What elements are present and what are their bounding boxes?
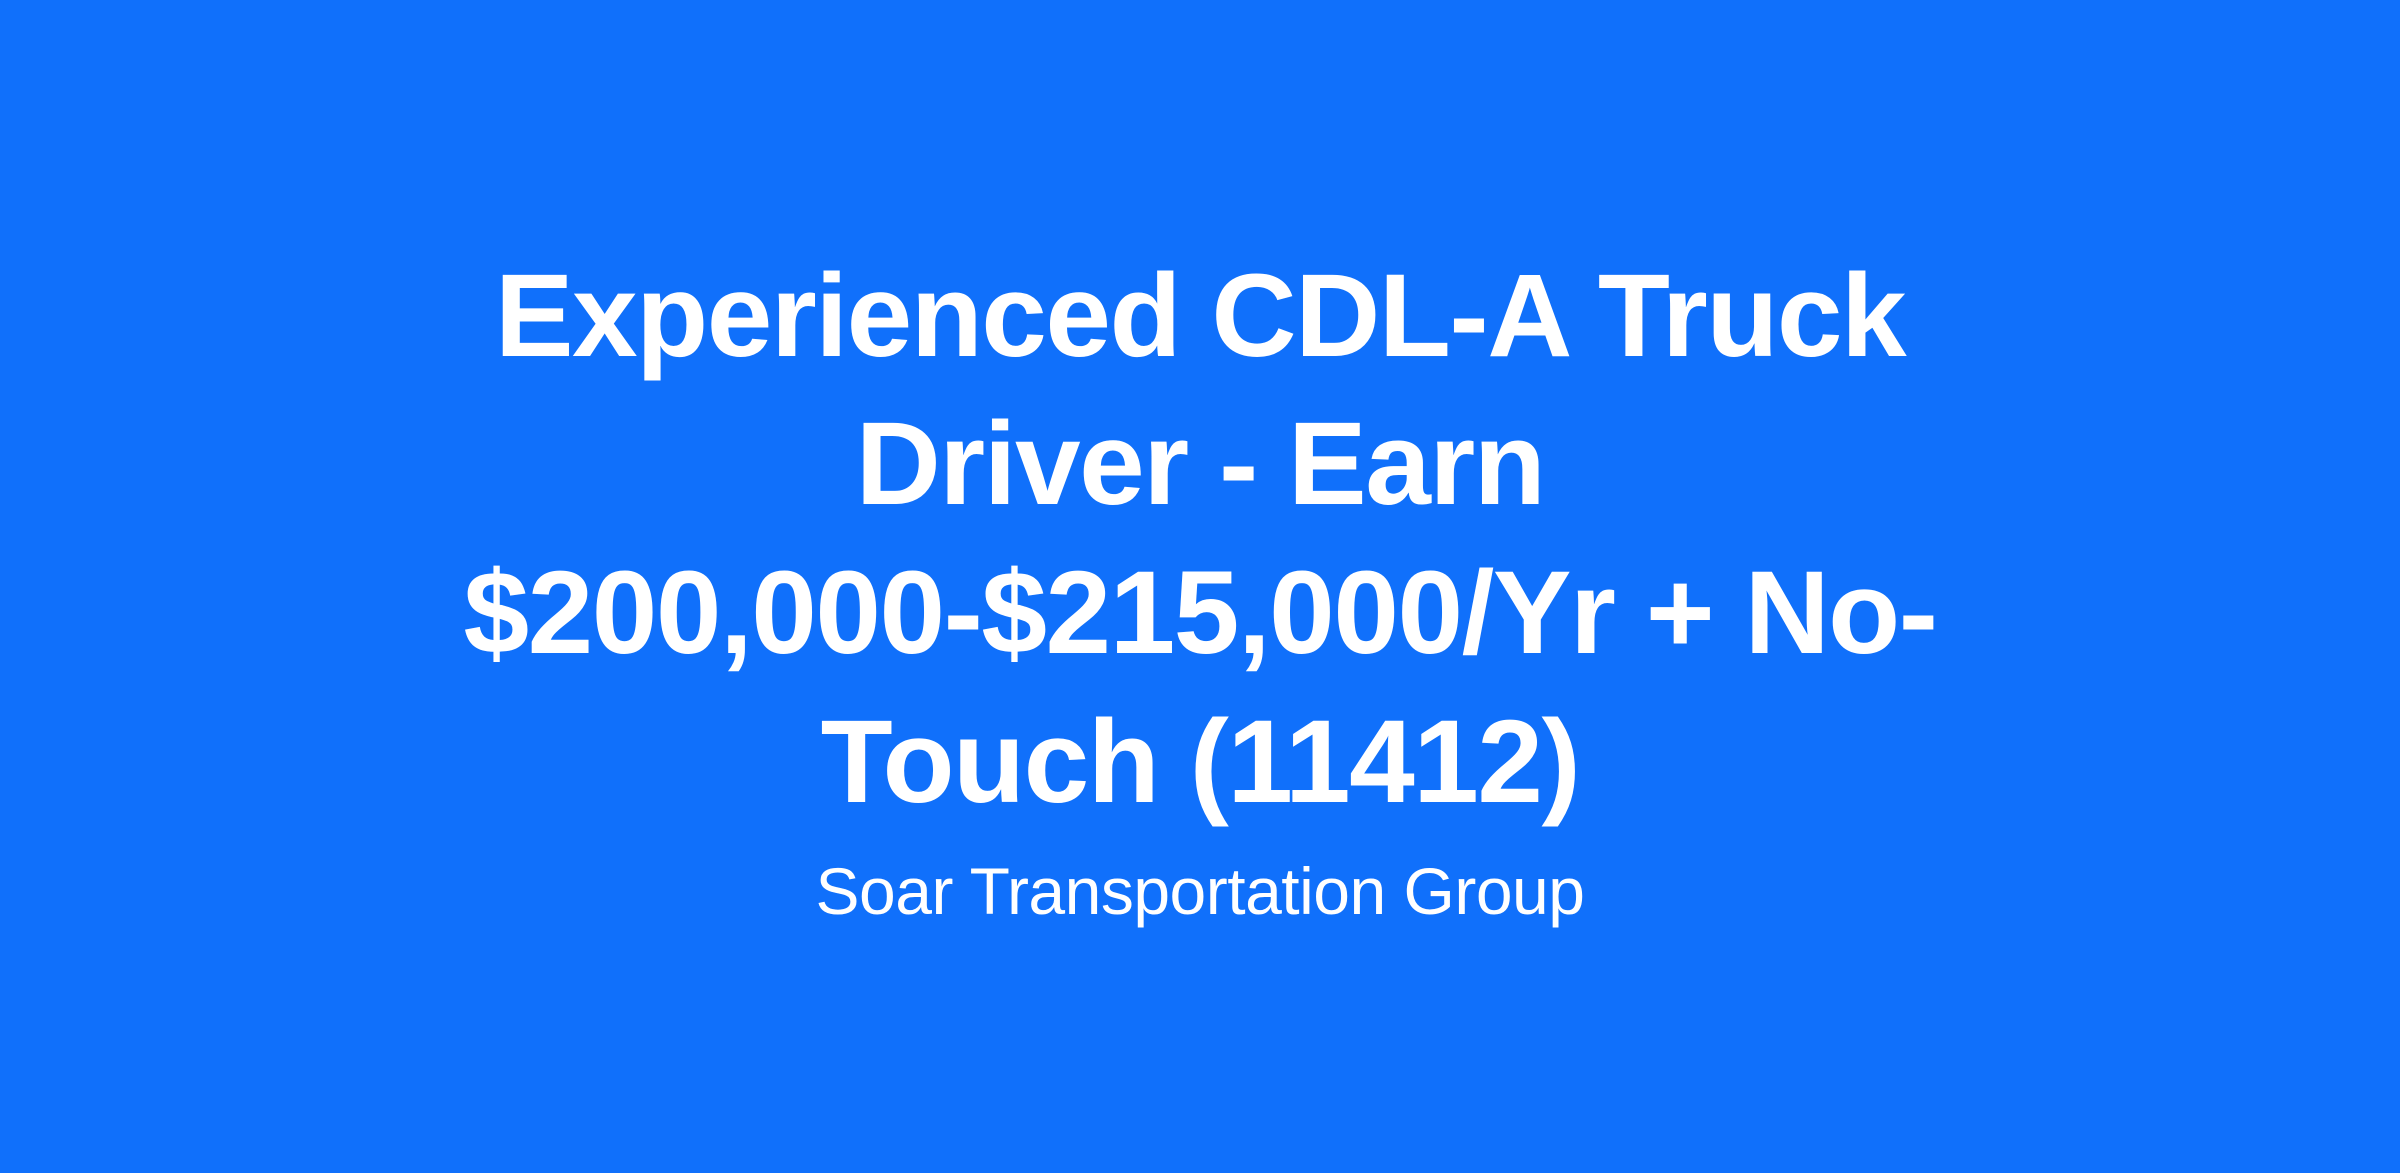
job-share-card: Experienced CDL-A Truck Driver - Earn $2… [0,0,2400,1173]
company-name: Soar Transportation Group [816,852,1585,931]
job-title: Experienced CDL-A Truck Driver - Earn $2… [350,242,2050,837]
card-content: Experienced CDL-A Truck Driver - Earn $2… [350,242,2050,932]
